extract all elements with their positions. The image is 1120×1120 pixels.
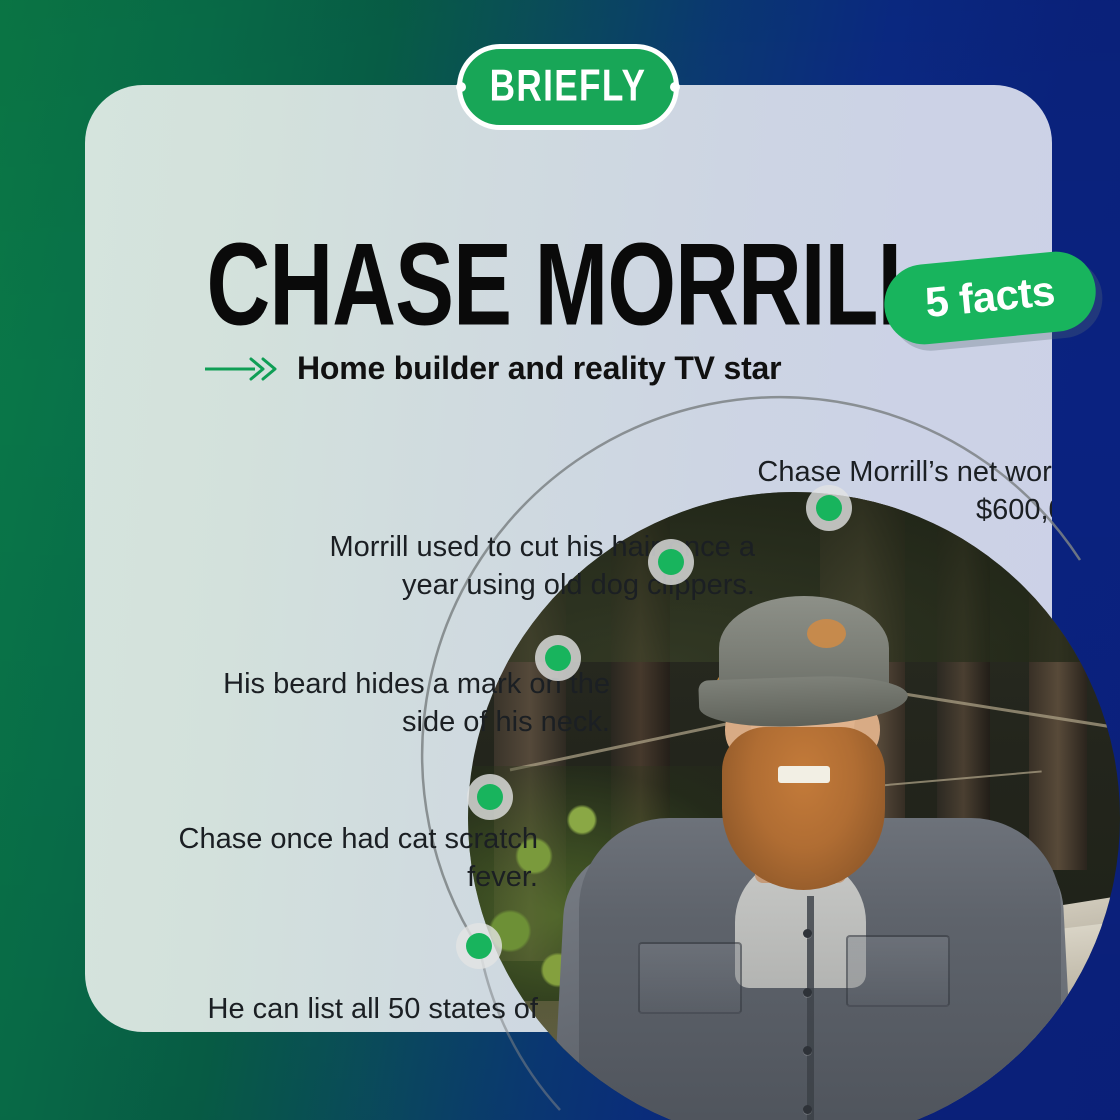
logo-left-dot-icon bbox=[456, 82, 466, 92]
page-title: CHASE MORRILL bbox=[124, 227, 1014, 344]
page-subtitle: Home builder and reality TV star bbox=[297, 350, 781, 387]
facts-count-label: 5 facts bbox=[923, 269, 1056, 326]
photo-subject-mouth bbox=[778, 766, 830, 783]
photo-shirt-pocket bbox=[846, 935, 950, 1007]
double-chevron-right-arrow-icon bbox=[205, 356, 283, 382]
photo-shirt-button bbox=[803, 1105, 812, 1114]
logo-wordmark: BRIEFLY bbox=[490, 63, 647, 110]
fact-marker-dot-icon bbox=[545, 645, 571, 671]
fact-marker-5[interactable] bbox=[456, 923, 502, 969]
photo-subject-beard bbox=[722, 727, 885, 890]
fact-item: He can list all 50 states of America in … bbox=[115, 990, 538, 1032]
fact-marker-2[interactable] bbox=[648, 539, 694, 585]
fact-marker-dot-icon bbox=[477, 784, 503, 810]
fact-marker-1[interactable] bbox=[806, 485, 852, 531]
fact-marker-4[interactable] bbox=[467, 774, 513, 820]
fact-marker-3[interactable] bbox=[535, 635, 581, 681]
photo-shirt-button bbox=[803, 929, 812, 938]
photo-shirt-pocket bbox=[638, 942, 742, 1014]
fact-marker-dot-icon bbox=[658, 549, 684, 575]
photo-shirt-button bbox=[803, 988, 812, 997]
logo-right-dot-icon bbox=[670, 82, 680, 92]
fact-marker-dot-icon bbox=[816, 495, 842, 521]
briefly-logo[interactable]: BRIEFLY bbox=[457, 44, 679, 130]
fact-item: Chase once had cat scratch fever. bbox=[145, 820, 538, 897]
subtitle-row: Home builder and reality TV star bbox=[205, 350, 781, 387]
fact-marker-dot-icon bbox=[466, 933, 492, 959]
